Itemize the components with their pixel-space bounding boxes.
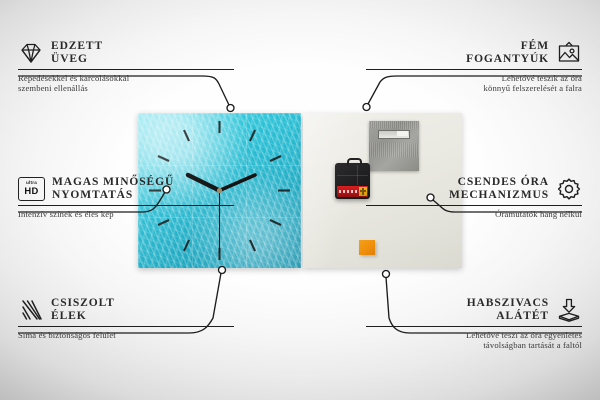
feature-subtitle: Intenzív színek és éles kép [18, 209, 234, 219]
feature-divider [366, 326, 582, 327]
ultra-hd-icon-big-text: HD [24, 186, 38, 195]
ultra-hd-icon: ultra HD [18, 177, 45, 201]
feature-magas-minosegu-nyomtatas: ultra HD MAGAS MINŐSÉGŰ NYOMTATÁS Intenz… [18, 176, 234, 219]
feature-subtitle: Repedésekkel és karcolásokkal szembeni e… [18, 73, 234, 94]
feature-csendes-ora-mechanizmus: CSENDES ÓRA MECHANIZMUS Óramutatók hang … [366, 176, 582, 219]
metal-hanger-plate [369, 121, 419, 171]
diamond-icon [18, 41, 44, 65]
infographic-canvas: EDZETT ÜVEG Repedésekkel és karcolásokka… [0, 0, 600, 400]
gear-icon [556, 177, 582, 201]
feature-subtitle: Sima és biztonságos felület [18, 330, 234, 340]
feature-divider [18, 326, 234, 327]
feature-fem-fogantyuk: FÉM FOGANTYÚK Lehetővé teszik az óra kön… [366, 40, 582, 94]
feature-title: HABSZIVACS ALÁTÉT [467, 297, 549, 322]
wall-hanger-icon [556, 41, 582, 65]
feature-title: CSENDES ÓRA MECHANIZMUS [449, 176, 549, 201]
feature-header: HABSZIVACS ALÁTÉT [366, 297, 582, 322]
clock-mechanism [335, 163, 370, 199]
foam-pad-icon [556, 298, 582, 322]
feature-header: FÉM FOGANTYÚK [366, 40, 582, 65]
feature-edzett-uveg: EDZETT ÜVEG Repedésekkel és karcolásokka… [18, 40, 234, 94]
battery [337, 186, 368, 197]
feature-subtitle: Óramutatók hang nélkül [366, 209, 582, 219]
feature-header: EDZETT ÜVEG [18, 40, 234, 65]
hanger-keyhole-slot [378, 130, 410, 139]
feature-title: FÉM FOGANTYÚK [466, 40, 549, 65]
feature-header: CSISZOLT ÉLEK [18, 297, 234, 322]
feature-title: CSISZOLT ÉLEK [51, 297, 115, 322]
feature-divider [18, 205, 234, 206]
feature-divider [366, 205, 582, 206]
feature-divider [366, 69, 582, 70]
mechanism-hook [347, 158, 362, 166]
feature-header: ultra HD MAGAS MINŐSÉGŰ NYOMTATÁS [18, 176, 234, 201]
mechanism-seam [337, 175, 368, 176]
feature-subtitle: Lehetővé teszi az óra egyenletes távolsá… [366, 330, 582, 351]
feature-habszivacs-alatet: HABSZIVACS ALÁTÉT Lehetővé teszi az óra … [366, 297, 582, 351]
battery-plus-terminal [359, 187, 367, 196]
feature-subtitle: Lehetővé teszik az óra könnyű felszerelé… [366, 73, 582, 94]
feature-csiszolt-elek: CSISZOLT ÉLEK Sima és biztonságos felüle… [18, 297, 234, 340]
feature-divider [18, 69, 234, 70]
polished-edges-icon [18, 298, 44, 322]
mechanism-split [357, 165, 358, 185]
feature-title: EDZETT ÜVEG [51, 40, 103, 65]
foam-pad [359, 240, 375, 255]
feature-header: CSENDES ÓRA MECHANIZMUS [366, 176, 582, 201]
feature-title: MAGAS MINŐSÉGŰ NYOMTATÁS [52, 176, 174, 201]
